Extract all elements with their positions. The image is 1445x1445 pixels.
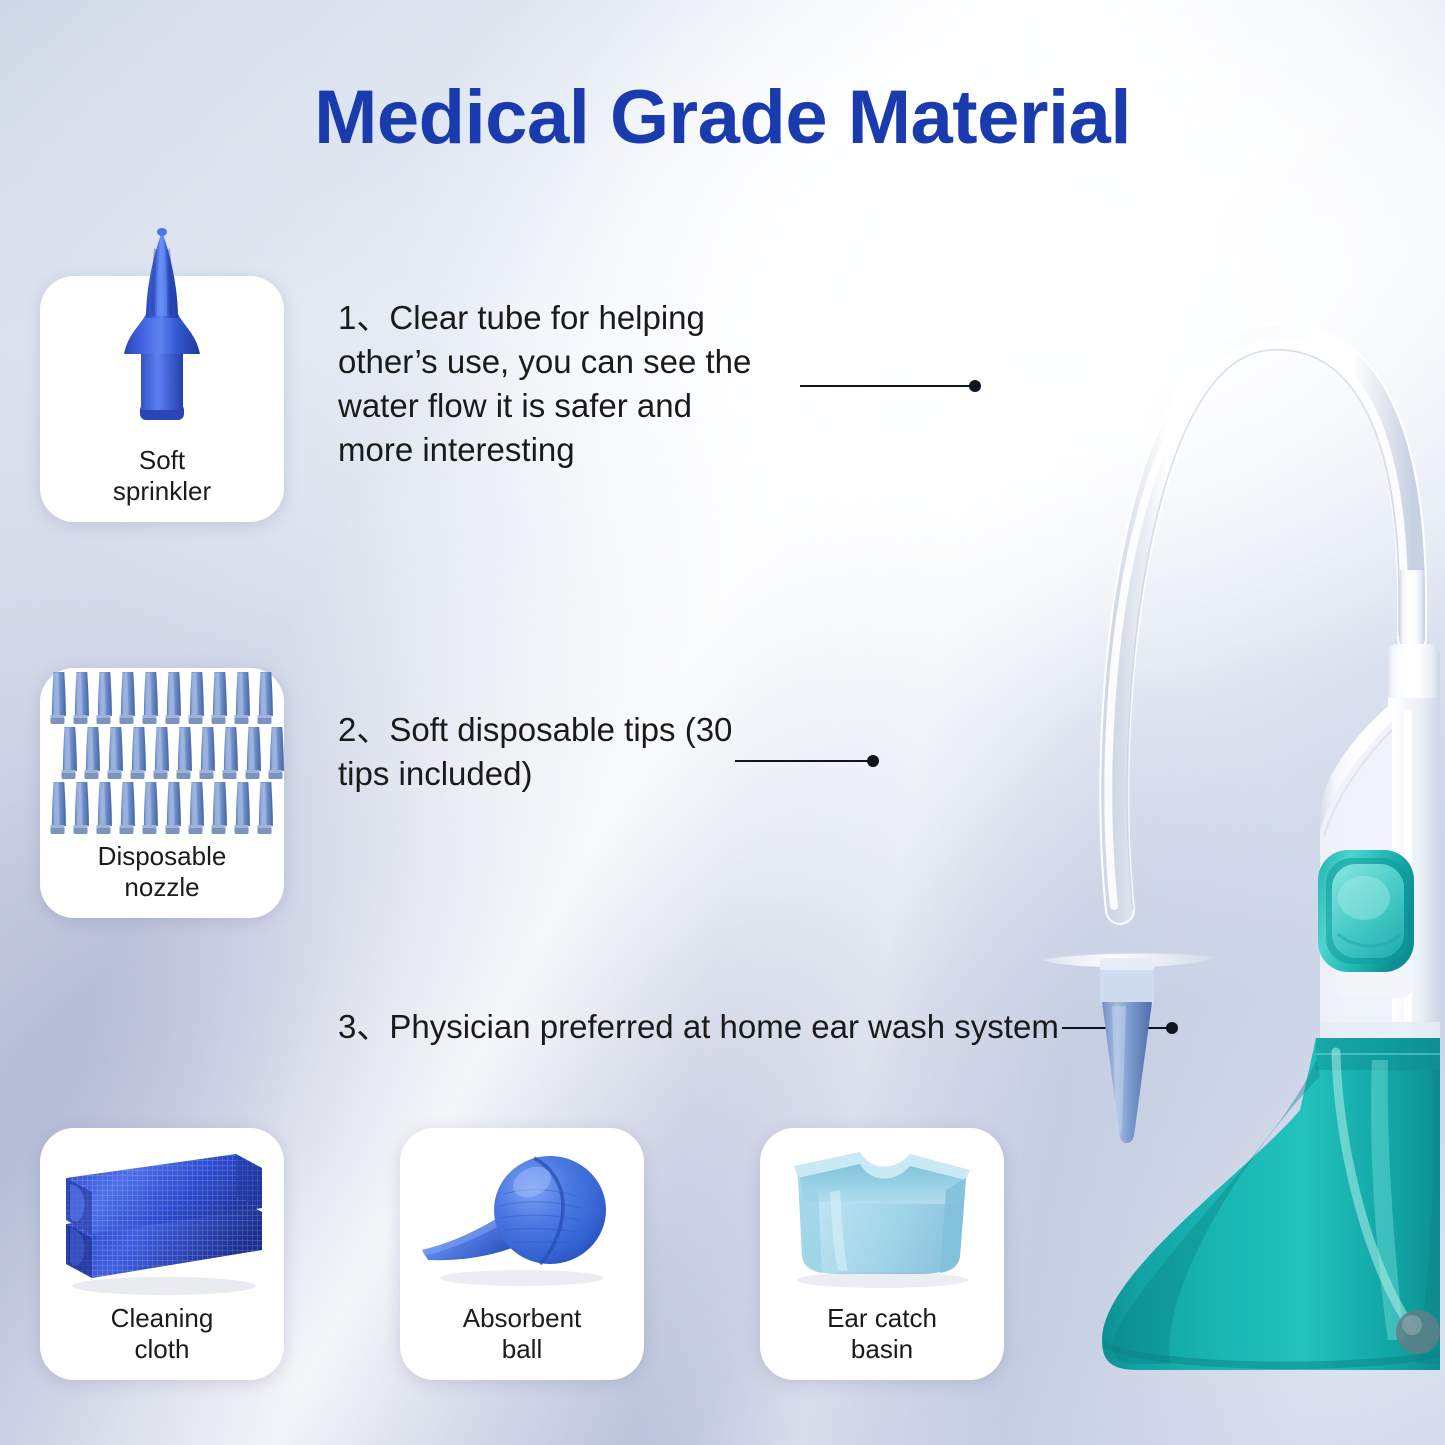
card-label-line1: Disposable (40, 841, 284, 873)
infographic-canvas: Medical Grade Material 1、Clear tube for … (0, 0, 1445, 1445)
card-label-line2: ball (400, 1334, 644, 1366)
nozzle-tip (154, 727, 169, 779)
soft-sprinkler-icon (102, 222, 222, 454)
body-collar (1386, 644, 1440, 704)
card-label-absorbent-ball: Absorbent ball (400, 1303, 644, 1366)
nozzle-tip (85, 727, 100, 779)
nozzle-tip (97, 782, 112, 834)
card-label-line1: Soft (40, 445, 284, 477)
feature-text-ear-wash-system: 3、Physician preferred at home ear wash s… (338, 1005, 1068, 1049)
feature-body-1: Clear tube for helping other’s use, you … (338, 299, 751, 468)
feature-number-3: 3、 (338, 1008, 389, 1045)
card-label-line2: cloth (40, 1334, 284, 1366)
nozzle-tip (269, 727, 284, 779)
nozzle-tip (212, 782, 227, 834)
nozzle-tip (120, 782, 135, 834)
nozzle-tip (246, 727, 261, 779)
nozzle-tip (189, 782, 204, 834)
card-label-ear-catch-basin: Ear catch basin (760, 1303, 1004, 1366)
card-label-line1: Cleaning (40, 1303, 284, 1335)
leader-line-disposable-tip (735, 760, 873, 762)
card-ear-catch-basin: Ear catch basin (760, 1128, 1004, 1380)
absorbent-ball-icon (400, 1128, 644, 1308)
nozzle-tip (200, 727, 215, 779)
nozzle-tip (235, 782, 250, 834)
card-label-disposable-nozzle: Disposable nozzle (40, 841, 284, 904)
nozzle-tip (166, 782, 181, 834)
nozzle-tip (212, 672, 227, 724)
tip-cone (1102, 1002, 1152, 1143)
nozzle-tip (235, 672, 250, 724)
nozzle-tip (258, 672, 273, 724)
card-label-line2: nozzle (40, 872, 284, 904)
nozzle-tip (74, 782, 89, 834)
feature-number-2: 2、 (338, 711, 389, 748)
nozzle-tip (120, 672, 135, 724)
nozzle-tip (143, 782, 158, 834)
ear-wash-bottle (1020, 270, 1440, 1400)
ear-catch-basin-icon (760, 1128, 1004, 1308)
nozzle-tip (131, 727, 146, 779)
card-label-soft-sprinkler: Soft sprinkler (40, 445, 284, 508)
page-title: Medical Grade Material (0, 74, 1445, 161)
nozzle-tip (223, 727, 238, 779)
feature-text-disposable-tips: 2、Soft disposable tips (30 tips included… (338, 708, 778, 796)
card-label-line1: Ear catch (760, 1303, 1004, 1335)
teal-reservoir (1102, 1038, 1440, 1370)
nozzle-tip (189, 672, 204, 724)
card-label-cleaning-cloth: Cleaning cloth (40, 1303, 284, 1366)
card-label-line1: Absorbent (400, 1303, 644, 1335)
nozzle-tip (74, 672, 89, 724)
nozzle-tip (62, 727, 77, 779)
nozzle-tip (51, 672, 66, 724)
disposable-nozzle-icon (40, 668, 284, 846)
nozzle-tip (258, 782, 273, 834)
nozzle-tip (51, 782, 66, 834)
cleaning-cloth-icon (40, 1128, 284, 1308)
nozzle-tip (97, 672, 112, 724)
feature-body-2: Soft disposable tips (30 tips included) (338, 711, 732, 792)
nozzle-tip (108, 727, 123, 779)
nozzle-tip (166, 672, 181, 724)
card-disposable-nozzle: Disposable nozzle (40, 668, 284, 918)
disposable-tip (1042, 953, 1216, 1143)
card-absorbent-ball: Absorbent ball (400, 1128, 644, 1380)
nozzle-tip (177, 727, 192, 779)
card-soft-sprinkler: Soft sprinkler (40, 276, 284, 522)
card-label-line2: sprinkler (40, 476, 284, 508)
leader-line-clear-tube (800, 385, 975, 387)
nozzle-tip (143, 672, 158, 724)
feature-number-1: 1、 (338, 299, 389, 336)
feature-body-3: Physician preferred at home ear wash sys… (389, 1008, 1058, 1045)
feature-text-clear-tube: 1、Clear tube for helping other’s use, yo… (338, 296, 768, 472)
card-label-line2: basin (760, 1334, 1004, 1366)
card-cleaning-cloth: Cleaning cloth (40, 1128, 284, 1380)
